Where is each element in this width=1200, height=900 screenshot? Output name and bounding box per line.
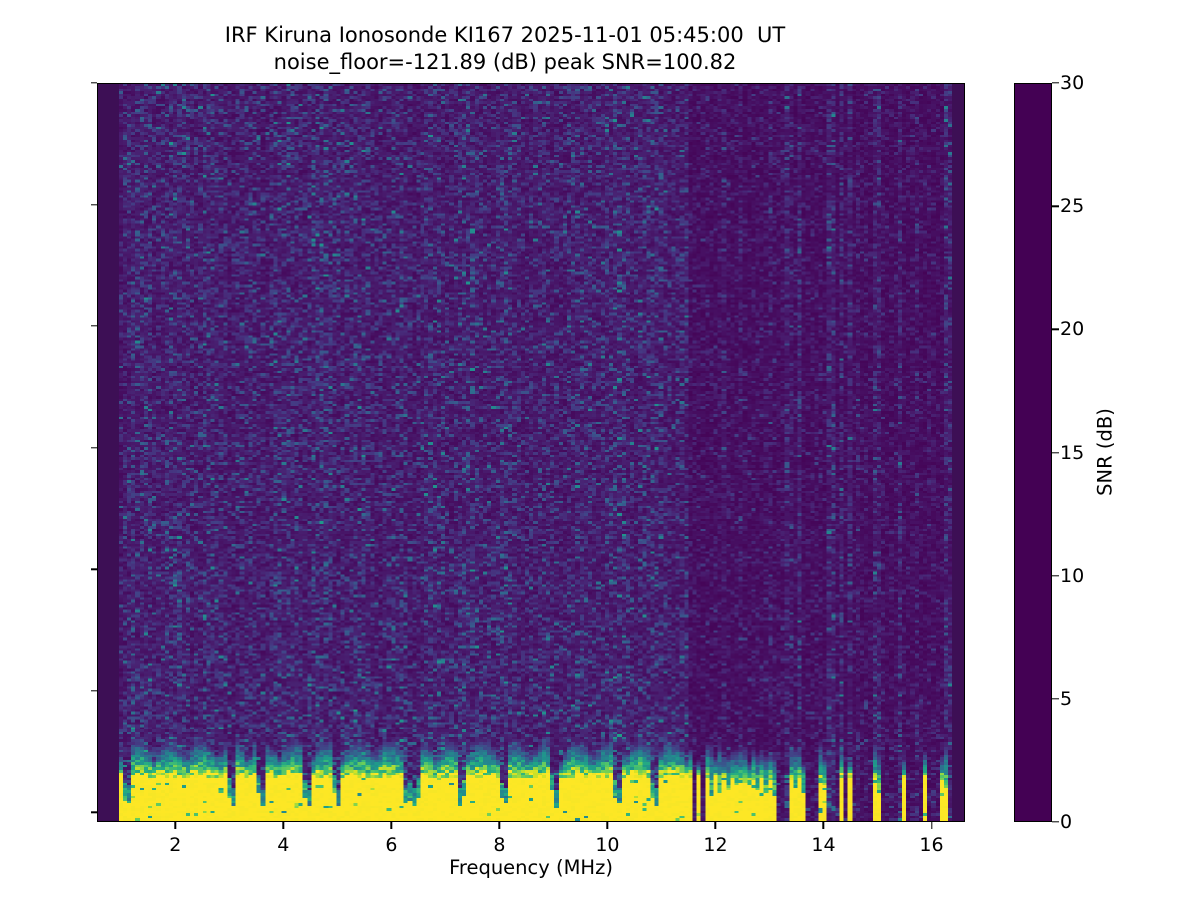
colorbar-label: SNR (dB) (1094, 408, 1117, 496)
x-tick-mark (391, 822, 392, 829)
x-tick-mark (823, 822, 824, 829)
colorbar-gradient-frame (1014, 83, 1052, 822)
x-tick-label: 14 (811, 834, 835, 856)
x-tick-mark (499, 822, 500, 829)
y-tick-mark (91, 204, 98, 205)
x-tick-label: 6 (385, 834, 397, 856)
colorbar-tick-mark (1052, 821, 1059, 822)
colorbar-tick-mark (1052, 452, 1059, 453)
plot-area[interactable] (97, 83, 965, 822)
x-tick-mark (607, 822, 608, 829)
colorbar-tick-label: 30 (1060, 72, 1084, 94)
y-tick-mark (91, 568, 98, 569)
colorbar-tick-mark (1052, 698, 1059, 699)
colorbar-tick-mark (1052, 82, 1059, 83)
colorbar-tick-mark (1052, 329, 1059, 330)
colorbar-tick-label: 20 (1060, 318, 1084, 340)
colorbar-tick-label: 10 (1060, 565, 1084, 587)
x-tick-label: 8 (493, 834, 505, 856)
ionogram-heatmap (98, 84, 964, 821)
colorbar-gradient (1015, 84, 1051, 821)
colorbar-tick-label: 15 (1060, 442, 1084, 464)
x-tick-label: 4 (277, 834, 289, 856)
x-axis-label: Frequency (MHz) (449, 856, 613, 879)
colorbar-tick-label: 5 (1060, 688, 1072, 710)
x-tick-label: 16 (919, 834, 943, 856)
x-tick-label: 10 (595, 834, 619, 856)
heatmap-canvas (98, 84, 964, 821)
x-tick-mark (931, 822, 932, 829)
x-tick-mark (283, 822, 284, 829)
y-tick-mark (91, 82, 98, 83)
y-tick-mark (91, 812, 98, 813)
colorbar-tick-label: 0 (1060, 811, 1072, 833)
colorbar-tick-mark (1052, 205, 1059, 206)
y-tick-mark (91, 690, 98, 691)
x-tick-label: 12 (703, 834, 727, 856)
figure-title: IRF Kiruna Ionosonde KI167 2025-11-01 05… (0, 22, 1010, 77)
x-tick-label: 2 (169, 834, 181, 856)
ionogram-figure: IRF Kiruna Ionosonde KI167 2025-11-01 05… (0, 0, 1200, 900)
x-tick-mark (175, 822, 176, 829)
colorbar-tick-label: 25 (1060, 195, 1084, 217)
y-tick-mark (91, 325, 98, 326)
title-line-2: noise_floor=-121.89 (dB) peak SNR=100.82 (0, 49, 1010, 76)
colorbar[interactable]: 051015202530 (1014, 83, 1052, 822)
y-tick-mark (91, 447, 98, 448)
colorbar-tick-mark (1052, 575, 1059, 576)
title-line-1: IRF Kiruna Ionosonde KI167 2025-11-01 05… (0, 22, 1010, 49)
x-tick-mark (715, 822, 716, 829)
